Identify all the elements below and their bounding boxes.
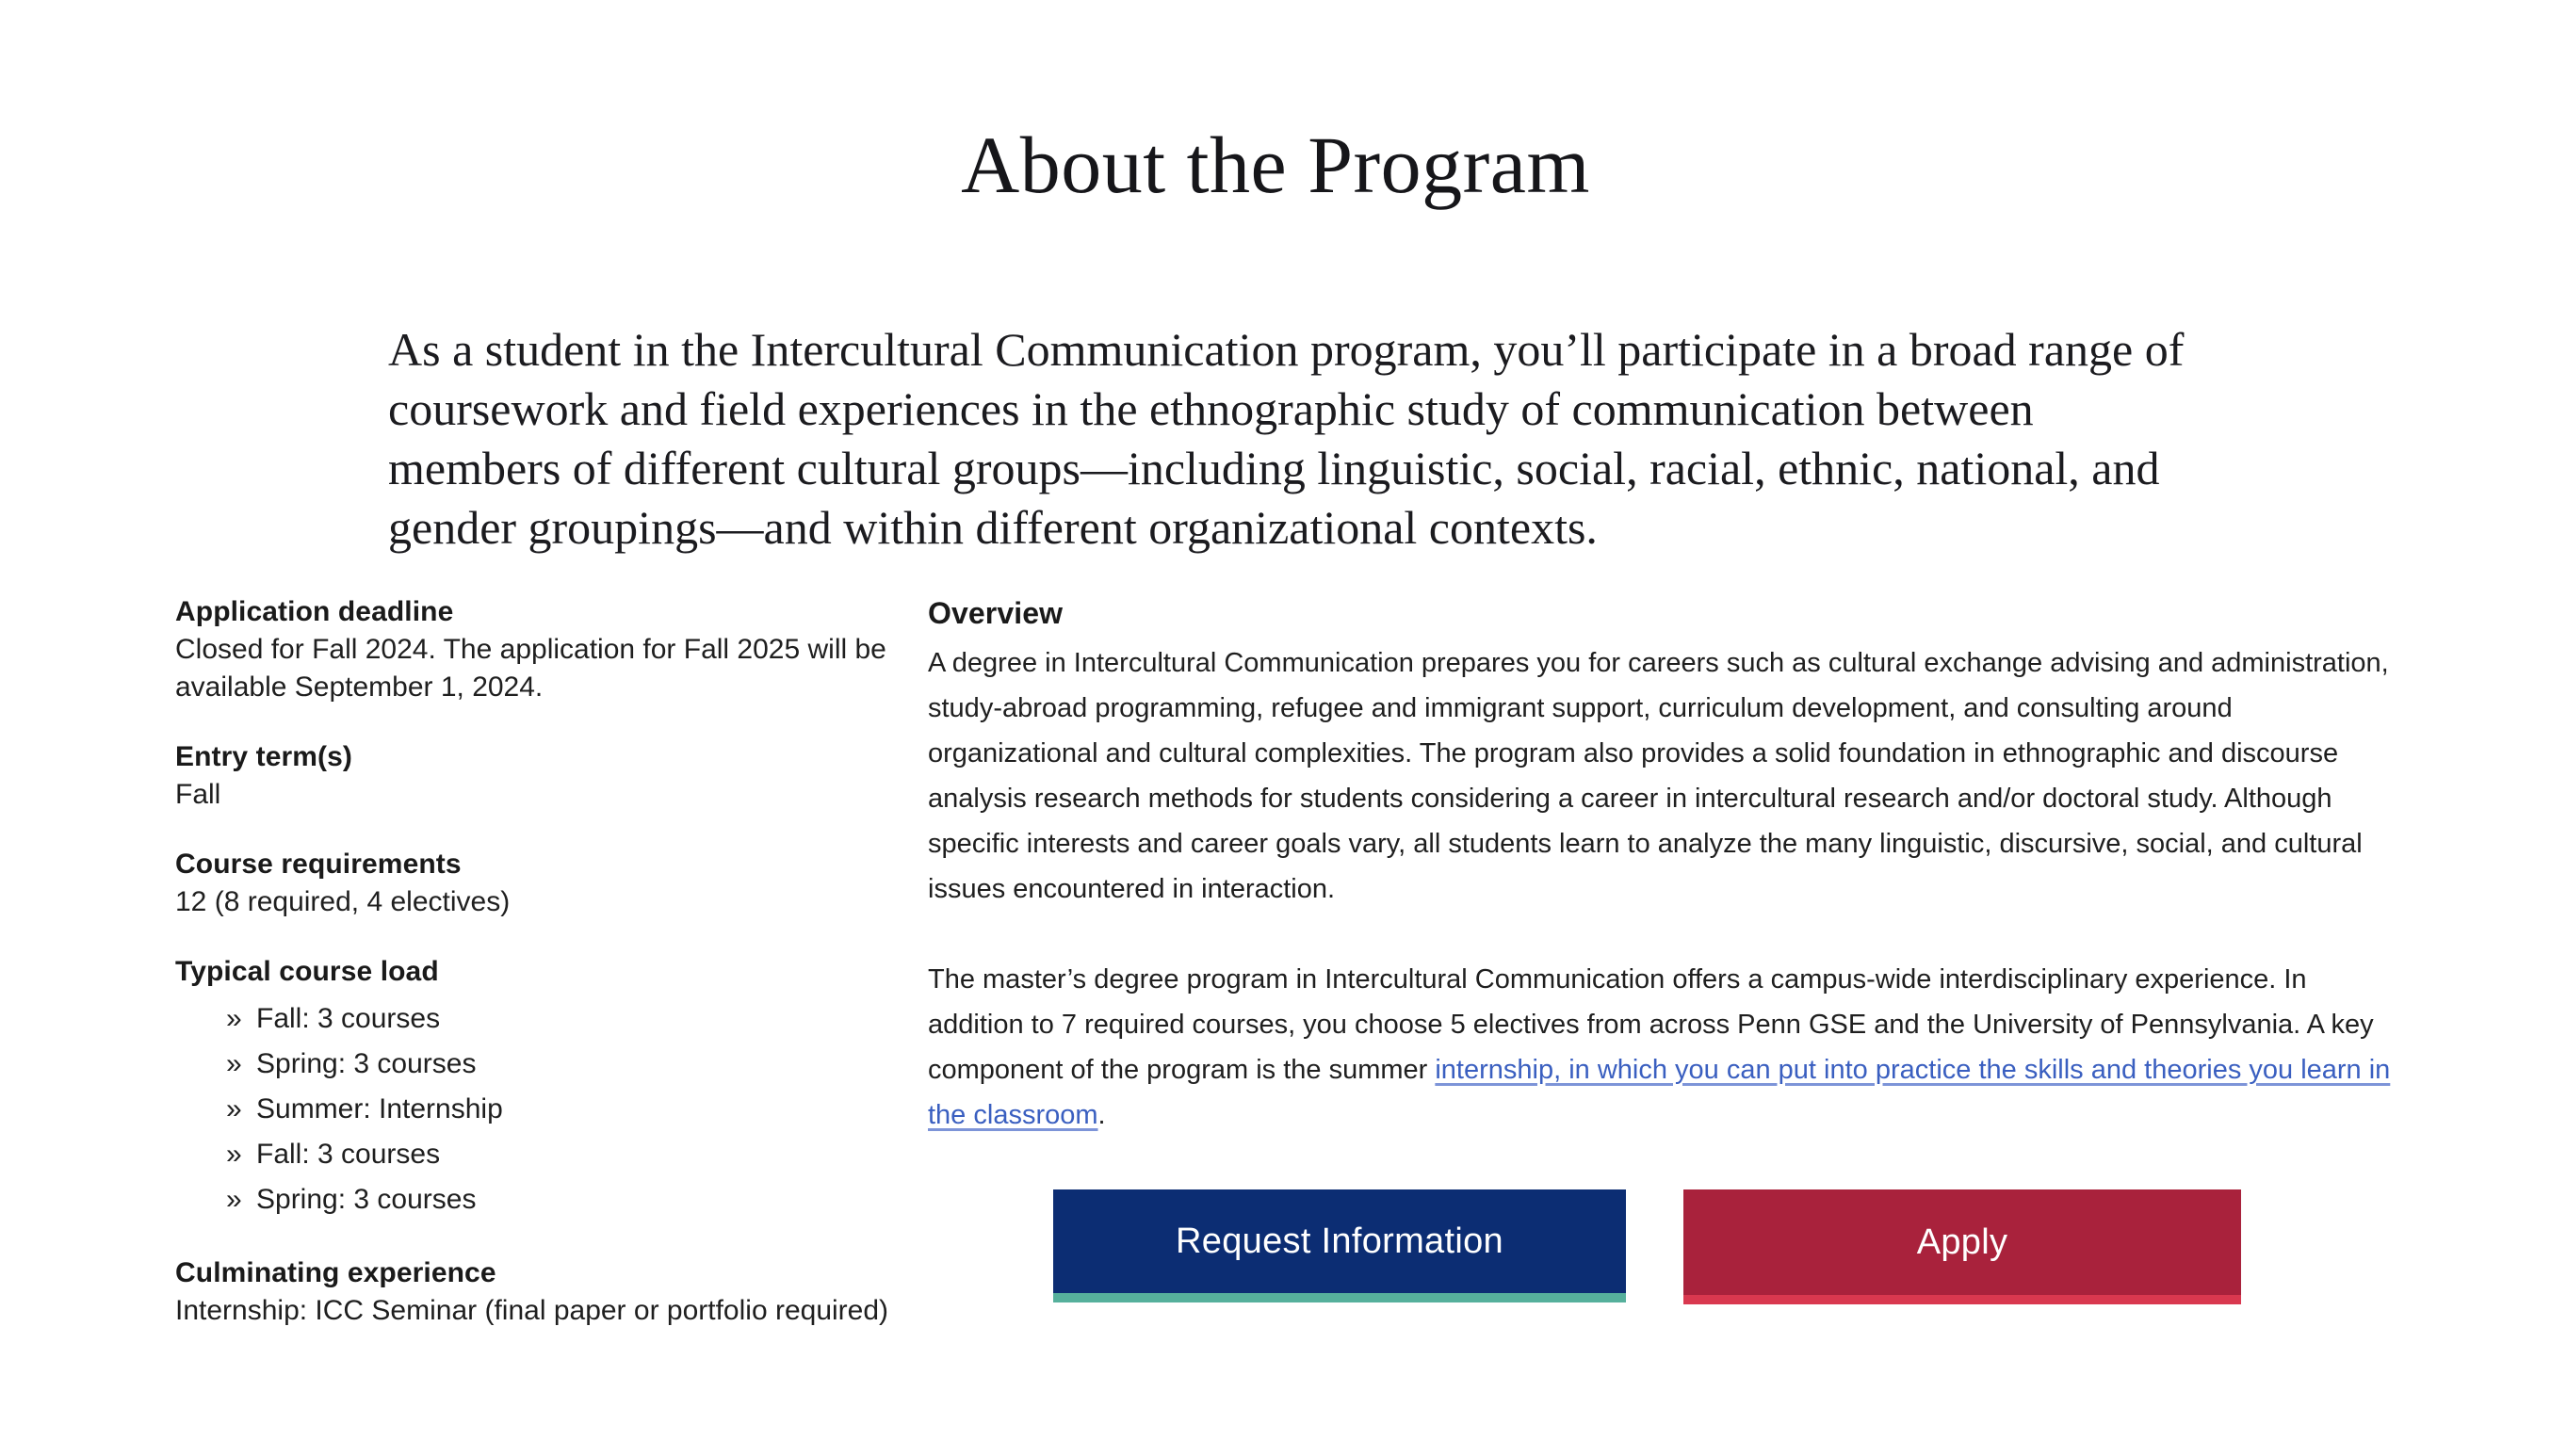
bullet-marker-icon: » — [226, 1042, 242, 1087]
program-facts-column: Application deadline Closed for Fall 202… — [175, 593, 891, 1330]
bullet-marker-icon: » — [226, 996, 242, 1042]
intro-paragraph: As a student in the Intercultural Commun… — [388, 320, 2206, 558]
course-load-list: » Fall: 3 courses » Spring: 3 courses » … — [175, 996, 891, 1222]
list-item: » Summer: Internship — [226, 1087, 891, 1132]
fact-label-entry-terms: Entry term(s) — [175, 738, 891, 776]
list-item-label: Summer: Internship — [256, 1093, 503, 1124]
list-item: » Fall: 3 courses — [226, 996, 891, 1042]
fact-value-course-requirements: 12 (8 required, 4 electives) — [175, 883, 891, 921]
bullet-marker-icon: » — [226, 1087, 242, 1132]
overview-column: Overview A degree in Intercultural Commu… — [928, 593, 2402, 1138]
fact-entry-terms: Entry term(s) Fall — [175, 738, 891, 814]
fact-course-requirements: Course requirements 12 (8 required, 4 el… — [175, 846, 891, 921]
overview-paragraph-2: The master’s degree program in Intercult… — [928, 957, 2402, 1138]
list-item: » Spring: 3 courses — [226, 1042, 891, 1087]
list-item-label: Spring: 3 courses — [256, 1048, 476, 1079]
fact-typical-course-load: Typical course load » Fall: 3 courses » … — [175, 953, 891, 1222]
fact-label-course-requirements: Course requirements — [175, 846, 891, 883]
request-information-button[interactable]: Request Information — [1053, 1189, 1626, 1302]
fact-value-culminating-experience: Internship: ICC Seminar (final paper or … — [175, 1292, 891, 1330]
apply-button[interactable]: Apply — [1683, 1189, 2241, 1304]
fact-culminating-experience: Culminating experience Internship: ICC S… — [175, 1254, 891, 1330]
fact-label-typical-course-load: Typical course load — [175, 953, 891, 991]
fact-value-application-deadline: Closed for Fall 2024. The application fo… — [175, 631, 891, 706]
overview-heading: Overview — [928, 593, 2402, 633]
bullet-marker-icon: » — [226, 1177, 242, 1222]
bullet-marker-icon: » — [226, 1132, 242, 1177]
list-item-label: Fall: 3 courses — [256, 1003, 440, 1034]
overview-paragraph-1: A degree in Intercultural Communication … — [928, 640, 2402, 912]
list-item: » Fall: 3 courses — [226, 1132, 891, 1177]
fact-label-culminating-experience: Culminating experience — [175, 1254, 891, 1292]
overview-paragraph-2-text-after: . — [1098, 1100, 1106, 1130]
list-item-label: Fall: 3 courses — [256, 1139, 440, 1170]
list-item: » Spring: 3 courses — [226, 1177, 891, 1222]
cta-button-row: Request Information Apply — [1053, 1189, 2278, 1321]
fact-application-deadline: Application deadline Closed for Fall 202… — [175, 593, 891, 706]
fact-label-application-deadline: Application deadline — [175, 593, 891, 631]
fact-value-entry-terms: Fall — [175, 776, 891, 814]
page-title: About the Program — [0, 122, 2551, 207]
list-item-label: Spring: 3 courses — [256, 1184, 476, 1215]
